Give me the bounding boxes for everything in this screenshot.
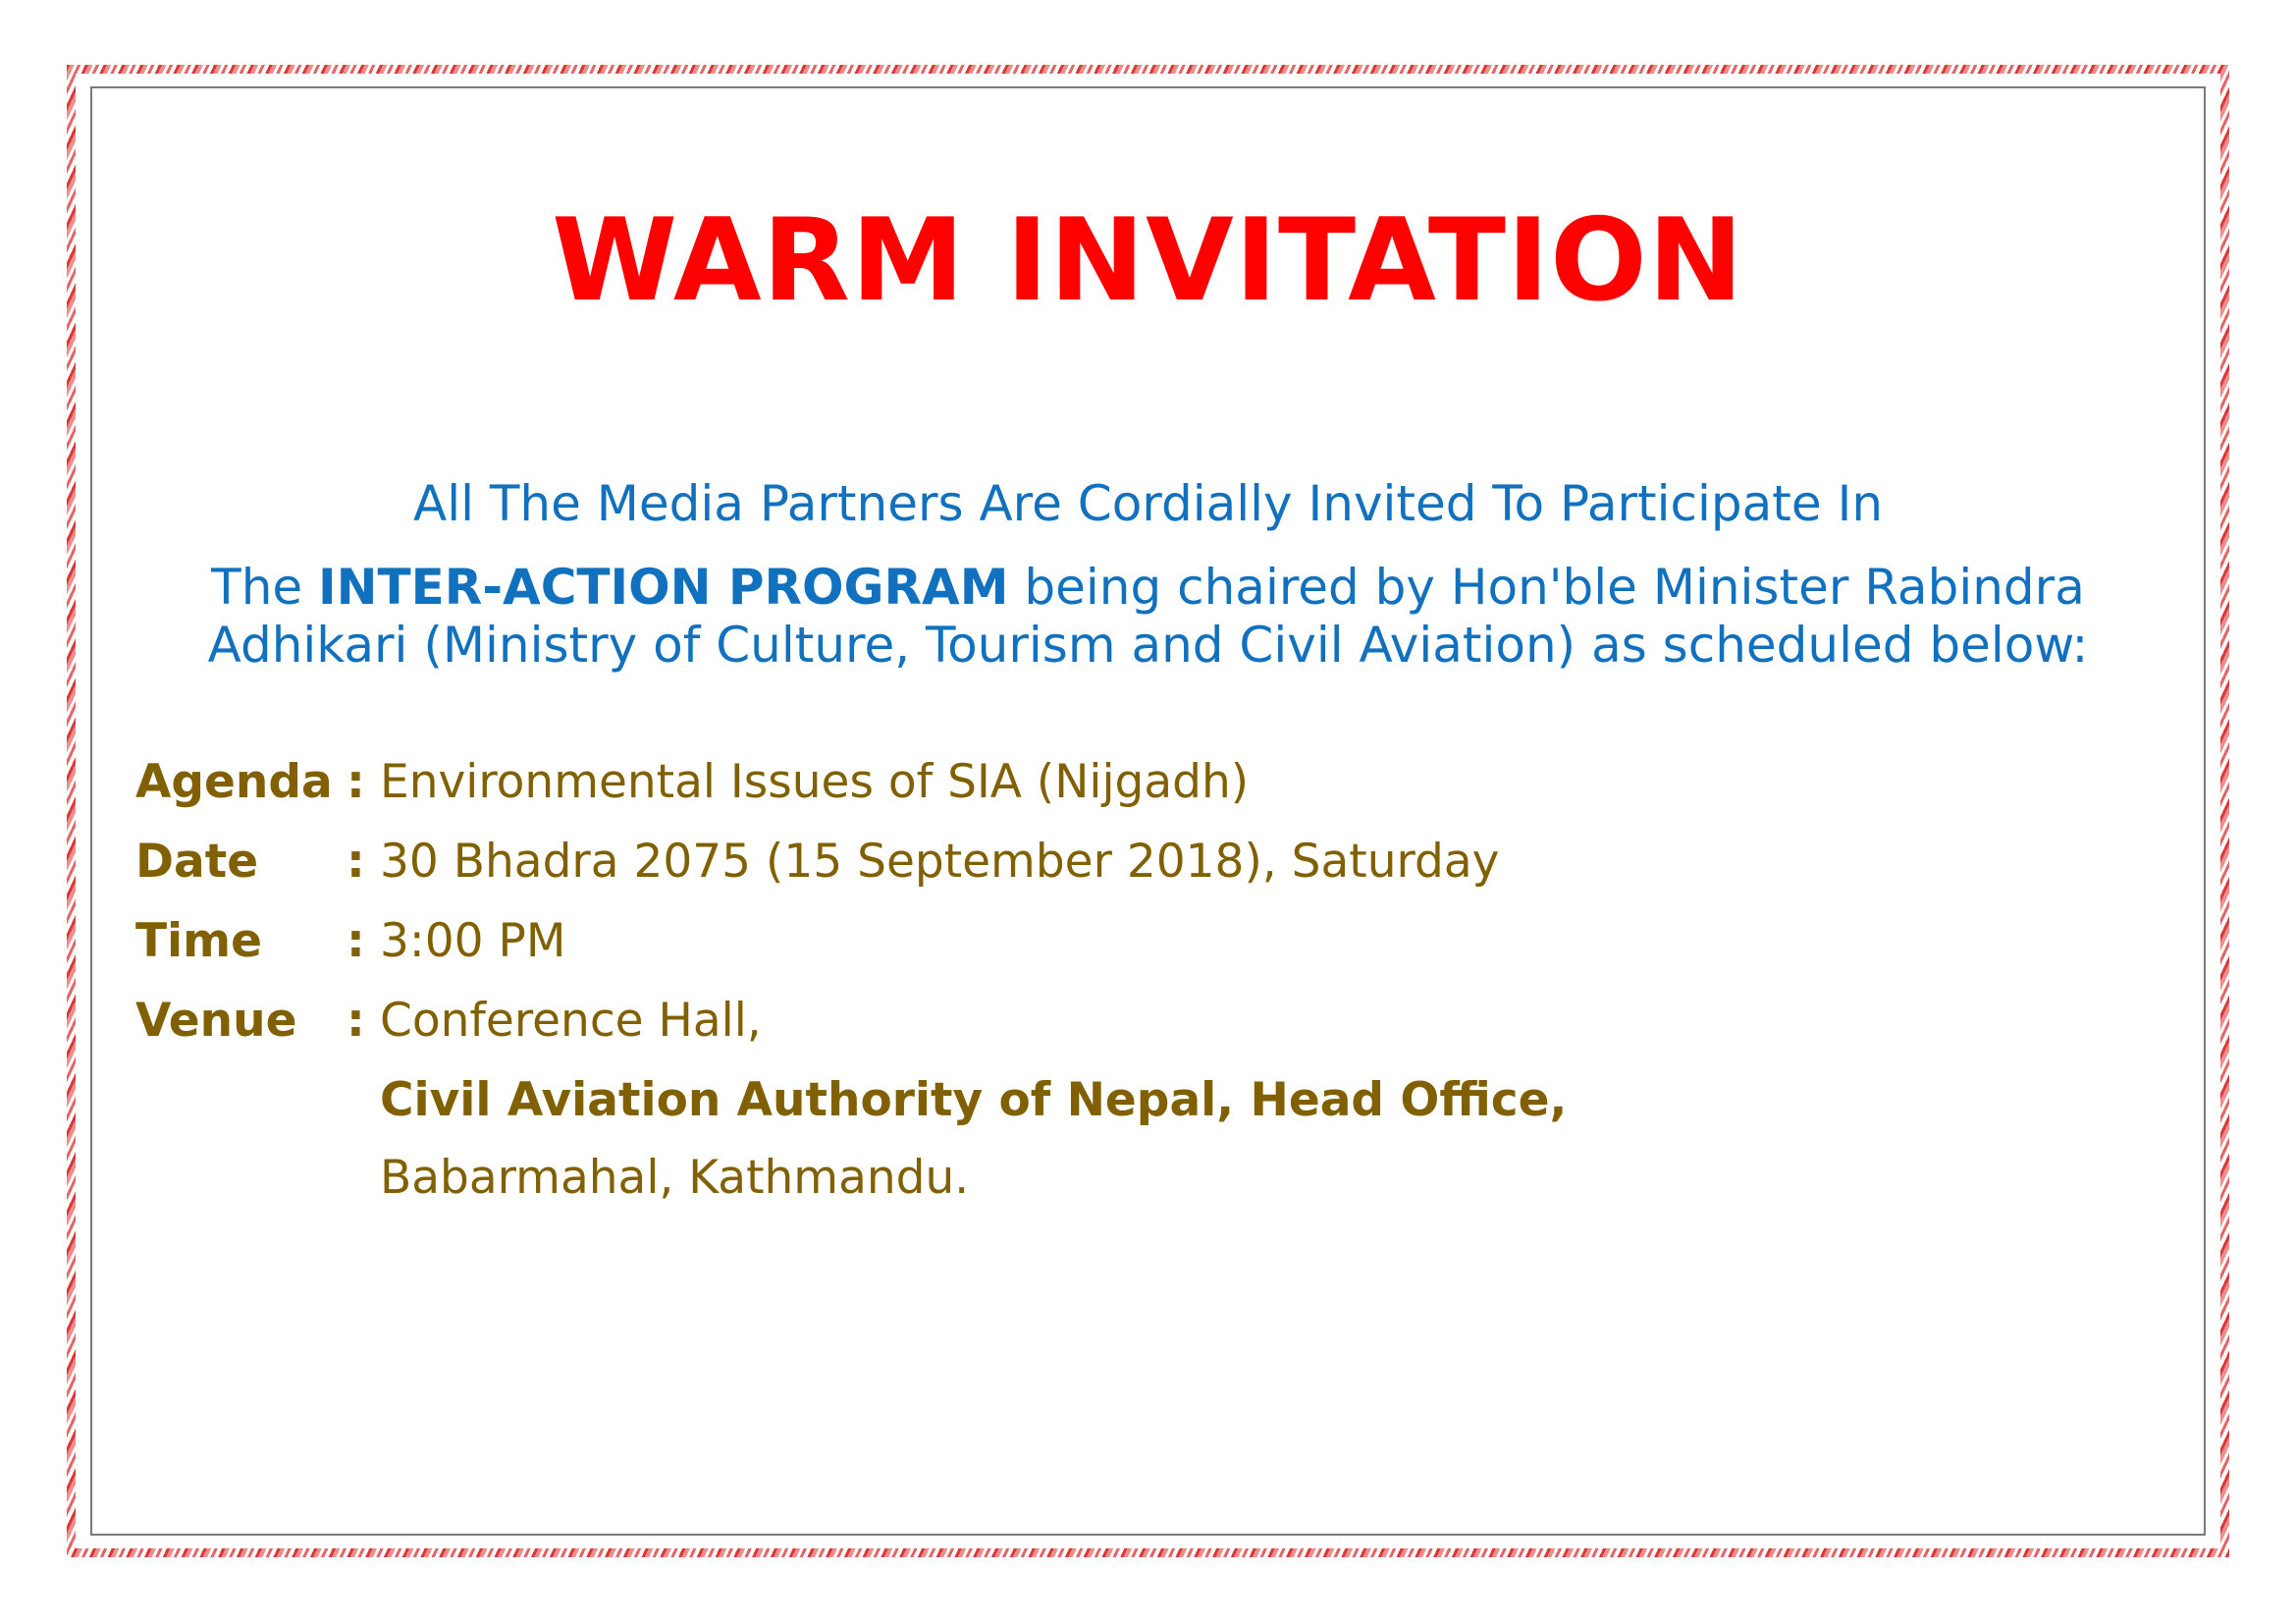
agenda-label: Agenda <box>135 759 347 805</box>
intro-line-1: All The Media Partners Are Cordially Inv… <box>128 475 2168 533</box>
invitation-page: WARM INVITATION All The Media Partners A… <box>0 0 2296 1624</box>
venue-address: Babarmahal, Kathmandu. <box>135 1155 2188 1201</box>
detail-row-venue: Venue : Conference Hall, <box>135 998 2188 1044</box>
date-label: Date <box>135 839 347 885</box>
intro-paragraph-2: The INTER-ACTION PROGRAM being chaired b… <box>128 559 2168 675</box>
detail-row-agenda: Agenda : Environmental Issues of SIA (Ni… <box>135 759 2188 805</box>
detail-row-date: Date : 30 Bhadra 2075 (15 September 2018… <box>135 839 2188 885</box>
invitation-content: WARM INVITATION All The Media Partners A… <box>108 98 2188 1526</box>
date-colon: : <box>347 839 380 885</box>
venue-colon: : <box>347 998 380 1044</box>
venue-organization: Civil Aviation Authority of Nepal, Head … <box>135 1077 2188 1123</box>
event-details-list: Agenda : Environmental Issues of SIA (Ni… <box>108 759 2188 1201</box>
agenda-colon: : <box>347 759 380 805</box>
intro-prefix: The <box>211 559 318 616</box>
detail-row-time: Time : 3:00 PM <box>135 918 2188 964</box>
agenda-value: Environmental Issues of SIA (Nijgadh) <box>380 759 2188 805</box>
time-value: 3:00 PM <box>380 918 2188 964</box>
time-label: Time <box>135 918 347 964</box>
program-name: INTER-ACTION PROGRAM <box>318 559 1008 616</box>
venue-value: Conference Hall, <box>380 998 2188 1044</box>
time-colon: : <box>347 918 380 964</box>
page-title: WARM INVITATION <box>108 204 2188 318</box>
invitation-intro-text: All The Media Partners Are Cordially Inv… <box>108 475 2188 675</box>
venue-label: Venue <box>135 998 347 1044</box>
date-value: 30 Bhadra 2075 (15 September 2018), Satu… <box>380 839 2188 885</box>
